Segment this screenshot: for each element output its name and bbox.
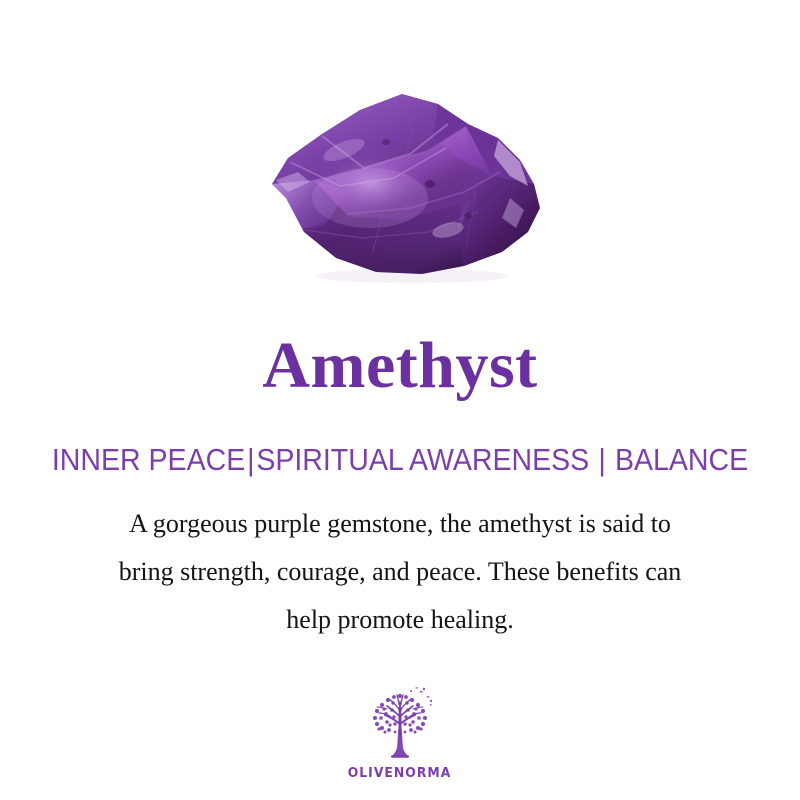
gemstone-image [252,80,548,285]
gem-body [252,80,548,285]
amethyst-info-card: Amethyst INNER PEACE|SPIRITUAL AWARENESS… [0,0,800,800]
keyword-separator-1: | [245,442,256,477]
page-title: Amethyst [0,333,800,399]
description-line-2: bring strength, courage, and peace. Thes… [50,548,750,596]
description-line-1: A gorgeous purple gemstone, the amethyst… [50,500,750,548]
hero-image-area [0,60,800,310]
keyword-spiritual-awareness: SPIRITUAL AWARENESS [256,442,589,477]
keyword-line: INNER PEACE|SPIRITUAL AWARENESS|BALANCE [32,442,768,478]
description-line-3: help promote healing. [50,596,750,644]
amethyst-crystal-illustration [252,80,548,285]
description-text: A gorgeous purple gemstone, the amethyst… [50,500,750,644]
keyword-balance: BALANCE [615,442,748,477]
brand-wordmark: OLIVENORMA [348,766,452,781]
keyword-separator-2: | [589,442,615,477]
brand-logo: OLIVENORMA [0,684,800,781]
keyword-inner-peace: INNER PEACE [52,442,245,477]
tree-logo-icon [357,684,443,764]
